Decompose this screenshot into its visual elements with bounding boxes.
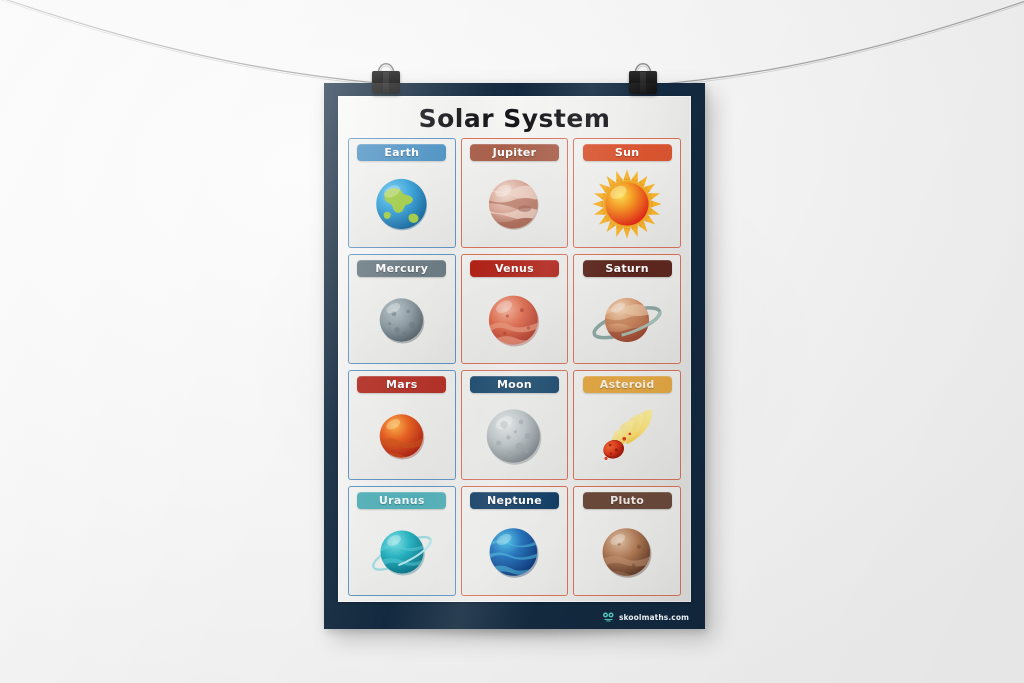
mercury-planet-icon (349, 277, 455, 363)
binder-clip-left[interactable] (369, 54, 403, 96)
card-label-neptune: Neptune (470, 492, 559, 509)
wall-scene: Solar System Earth (0, 0, 1024, 683)
footer-branding[interactable]: skoolmaths.com (602, 612, 689, 623)
saturn-planet-icon (574, 277, 680, 363)
card-asteroid[interactable]: Asteroid (573, 370, 681, 480)
poster-sheet: Solar System Earth (338, 96, 691, 602)
uranus-planet-icon (349, 509, 455, 595)
planet-grid: Earth (348, 138, 681, 596)
mars-planet-icon (349, 393, 455, 479)
asteroid-comet-icon (574, 393, 680, 479)
card-label-venus: Venus (470, 260, 559, 277)
card-label-mercury: Mercury (357, 260, 446, 277)
solar-system-poster[interactable]: Solar System Earth (324, 83, 705, 629)
card-mercury[interactable]: Mercury (348, 254, 456, 364)
card-label-moon: Moon (470, 376, 559, 393)
venus-planet-icon (462, 277, 568, 363)
card-moon[interactable]: Moon (461, 370, 569, 480)
card-venus[interactable]: Venus (461, 254, 569, 364)
earth-planet-icon (349, 161, 455, 247)
card-saturn[interactable]: Saturn (573, 254, 681, 364)
moon-icon (462, 393, 568, 479)
card-mars[interactable]: Mars (348, 370, 456, 480)
card-label-jupiter: Jupiter (470, 144, 559, 161)
neptune-planet-icon (462, 509, 568, 595)
card-pluto[interactable]: Pluto (573, 486, 681, 596)
card-jupiter[interactable]: Jupiter (461, 138, 569, 248)
card-earth[interactable]: Earth (348, 138, 456, 248)
card-uranus[interactable]: Uranus (348, 486, 456, 596)
jupiter-planet-icon (462, 161, 568, 247)
clip-body (372, 71, 400, 94)
binder-clip-right[interactable] (626, 54, 660, 96)
clip-body (629, 71, 657, 94)
card-sun[interactable]: Sun (573, 138, 681, 248)
card-label-sun: Sun (583, 144, 672, 161)
card-label-saturn: Saturn (583, 260, 672, 277)
skoolmaths-logo-icon (602, 612, 615, 623)
card-label-uranus: Uranus (357, 492, 446, 509)
card-label-asteroid: Asteroid (583, 376, 672, 393)
card-label-mars: Mars (357, 376, 446, 393)
footer-logo-text: skoolmaths.com (619, 613, 689, 622)
sun-icon (574, 161, 680, 247)
card-neptune[interactable]: Neptune (461, 486, 569, 596)
pluto-planet-icon (574, 509, 680, 595)
card-label-earth: Earth (357, 144, 446, 161)
page-title: Solar System (338, 104, 691, 133)
card-label-pluto: Pluto (583, 492, 672, 509)
